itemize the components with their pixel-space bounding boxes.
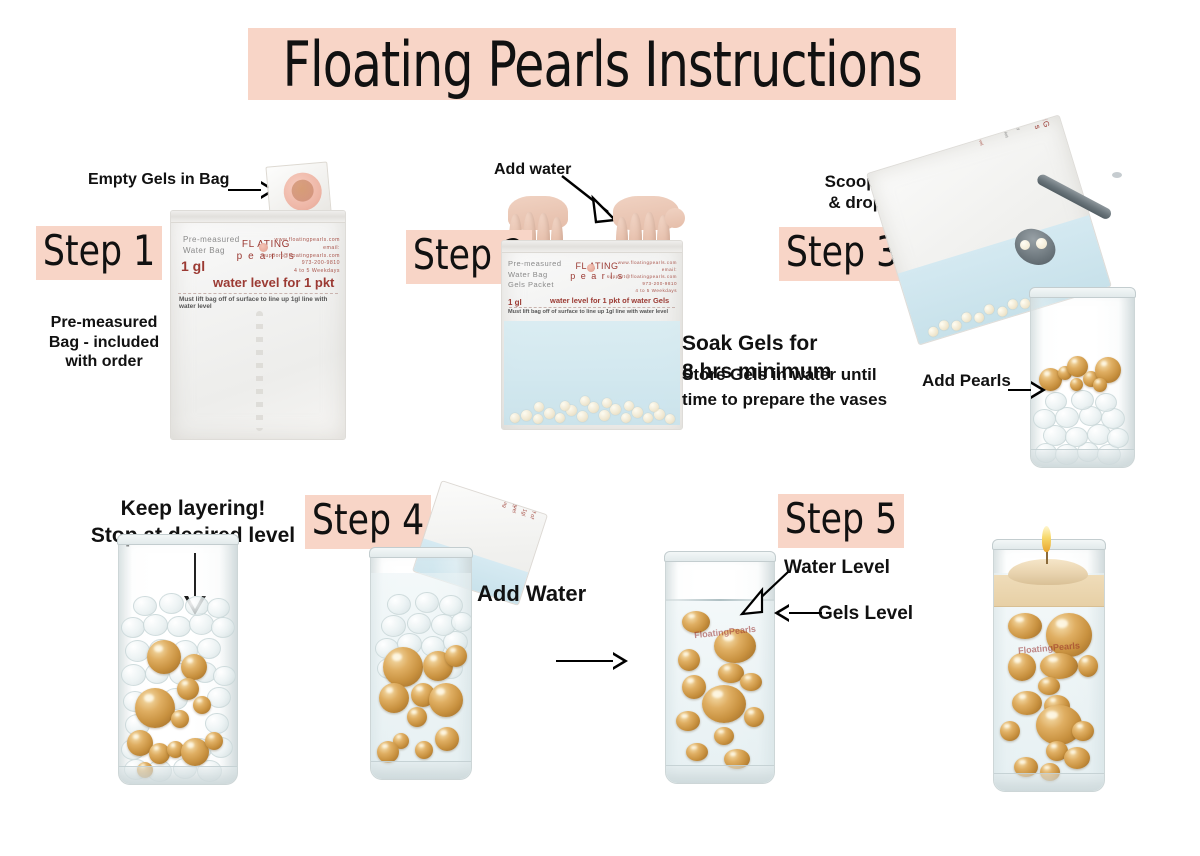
bag3-fine-print: Must lift bag off of surface to line up … (945, 114, 986, 146)
vase-step4 (370, 548, 472, 780)
bag2-water-level-line: water level for 1 pkt of water Gels (550, 296, 669, 305)
bag2-volume: 1 gl (508, 298, 522, 307)
annotation-gels-level: Gels Level (818, 602, 913, 625)
step-badge-4: Step 4 (305, 495, 431, 549)
vase-layered (118, 535, 238, 785)
bag-label-water-bag: Water Bag (183, 246, 225, 255)
bag-water-level-line: water level for 1 pkt (213, 275, 334, 290)
contents-vase-step4 (371, 573, 471, 779)
water-bag-step1: Pre-measured Water Bag 1 gl FL ATING p e… (170, 210, 346, 440)
candle-icon (1008, 559, 1088, 585)
arrow-right-icon-3 (556, 652, 628, 670)
pearl-layer-step3 (1031, 353, 1134, 393)
step-badge-4-label: Step 4 (312, 499, 424, 541)
annotation-premeasured-bag: Pre-measured Bag - included with order (40, 313, 168, 372)
water-bag-step2: Pre-measured Water Bag Gels Packet 1 gl … (501, 240, 683, 430)
page-title-banner: Floating Pearls Instructions (248, 28, 956, 100)
pearls-vase-final: FloatingPearls (994, 591, 1104, 791)
gel-beads-row (504, 391, 680, 425)
bag2-label-gels-packet: Gels Packet (508, 280, 554, 289)
vase-final-candle: FloatingPearls (993, 540, 1105, 792)
vase-step3 (1030, 288, 1135, 468)
pearls-vase-step5: FloatingPearls (666, 601, 774, 783)
brand-dot-icon-2 (587, 264, 595, 272)
annotation-store-gels: Store Gels in water until time to prepar… (682, 363, 887, 412)
bag-seam (256, 311, 263, 431)
step-badge-5: Step 5 (778, 494, 904, 548)
step-badge-5-label: Step 5 (785, 498, 897, 540)
annotation-empty-gels: Empty Gels in Bag (88, 170, 229, 190)
annotation-water-level: Water Level (784, 556, 890, 579)
bag-label-premeasured: Pre-measured (183, 235, 240, 244)
bag2-label-water-bag: Water Bag (508, 270, 548, 279)
bag-fine-print: Must lift bag off of surface to line up … (179, 296, 345, 310)
bag4-fine-print: Must lift bag off of surface to line up … (508, 480, 548, 520)
bag-label-volume: 1 gl (181, 258, 205, 274)
page-title: Floating Pearls Instructions (282, 28, 921, 101)
annotation-add-water-step4: Add Water (477, 581, 586, 608)
step-badge-1-label: Step 1 (43, 230, 155, 272)
bag2-label-premeasured: Pre-measured (508, 259, 562, 268)
step-badge-3-label: Step 3 (786, 231, 898, 273)
spoon-icon (994, 168, 1124, 298)
bag3-labels: Pre-measured Water Bag 1 gl Gels Packet (994, 114, 1022, 138)
arrow-right-icon-2 (1008, 381, 1046, 399)
arrow-left-icon (774, 604, 822, 622)
bag-contact-info: www.floatingpearls.com email: support@fl… (262, 237, 340, 276)
annotation-add-pearls: Add Pearls (922, 371, 1011, 392)
bag2-fine-print: Must lift bag off of surface to line up … (508, 309, 668, 315)
layers-vase-layered (119, 594, 237, 784)
flame-icon (1042, 526, 1051, 552)
bag2-contact-info: www.floatingpearls.com email: support@fl… (607, 260, 677, 294)
step-badge-1: Step 1 (36, 226, 162, 280)
bag4-labels: 1 gl water level for 1 pkt Pre-measured … (499, 480, 534, 512)
